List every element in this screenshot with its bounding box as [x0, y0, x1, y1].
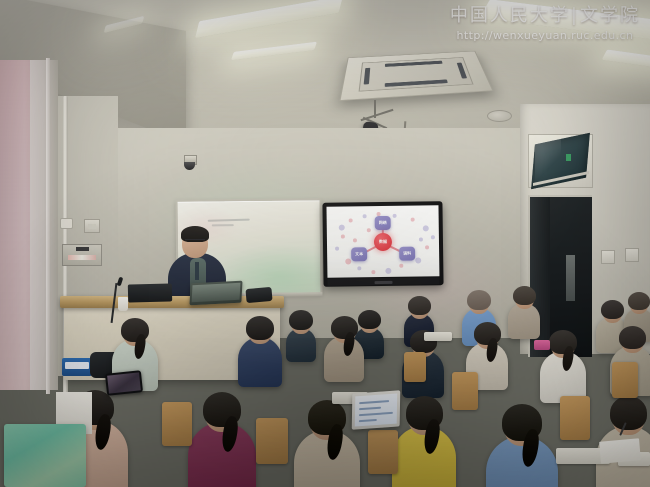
wall-switch-1[interactable]	[601, 250, 615, 264]
transom-green-tag	[566, 154, 571, 161]
mind-map-dot-10	[425, 245, 429, 249]
ac-vane-left	[364, 68, 371, 85]
flat-panel-display[interactable]: 网络文本语料数据	[322, 201, 443, 287]
student-front-right-hair	[610, 396, 647, 430]
wall-switch-2[interactable]	[625, 248, 639, 262]
mind-map-dot-15	[363, 214, 367, 218]
man-beige-right-hair	[513, 286, 536, 305]
mind-map-dot-1	[339, 225, 345, 231]
student-front-blue	[486, 404, 558, 487]
mind-map-dot-3	[335, 247, 339, 251]
podium-laptop[interactable]	[189, 281, 242, 306]
transom-glass-reflection	[535, 138, 561, 182]
mind-map-dot-5	[357, 266, 361, 270]
writing-tablet-4	[424, 332, 452, 341]
mind-map-dot-17	[419, 237, 423, 241]
wall-control-panel[interactable]	[62, 244, 102, 266]
dome-security-camera	[183, 155, 196, 171]
paper-cup	[118, 297, 128, 311]
chair-1[interactable]	[162, 402, 192, 446]
mind-map-node-left: 文本	[351, 247, 367, 261]
back-row-student-1-hair	[289, 310, 313, 330]
mind-map-dot-8	[399, 264, 403, 268]
student-checkered-coat-torso	[238, 337, 282, 387]
camera-dome	[184, 162, 195, 170]
mind-map-dot-18	[341, 235, 345, 239]
fluorescent-light-2	[479, 0, 650, 41]
podium-control-monitor[interactable]	[128, 283, 172, 302]
mind-map-hub-node: 数据	[374, 232, 392, 250]
mind-map-dot-20	[367, 228, 371, 232]
smartphone-screen	[107, 372, 141, 393]
light-switch[interactable]	[84, 219, 100, 233]
laptop-content-line-3	[359, 412, 393, 416]
student-front-tan	[294, 400, 360, 487]
display-screen: 网络文本语料数据	[326, 205, 439, 278]
mind-map-slide: 网络文本语料数据	[326, 205, 439, 278]
blue-equipment-box	[62, 358, 92, 376]
teal-green-bag	[4, 424, 86, 487]
blue-box-label	[65, 362, 89, 369]
left-jamb-pink-cast	[0, 60, 30, 390]
laptop-content-line-2	[359, 407, 381, 411]
student-tan-coat	[324, 316, 364, 387]
podium-laptop-screen	[192, 283, 241, 303]
whiteboard-writing-2	[212, 224, 234, 226]
podium-equipment[interactable]	[245, 287, 272, 303]
smartphone-camera[interactable]	[105, 370, 143, 396]
man-in-blue-shirt-hair	[467, 290, 491, 310]
mind-map-dot-11	[423, 225, 429, 231]
mind-map-dot-7	[385, 268, 391, 274]
lecturer-glasses	[185, 239, 205, 244]
corridor-light	[566, 255, 575, 301]
ac-vane-bottom	[385, 79, 447, 86]
laptop-content-line-4	[359, 419, 377, 422]
transom-window-frame	[528, 134, 593, 188]
chair-7[interactable]	[404, 352, 426, 382]
student-far-right-hair	[628, 292, 650, 310]
pipe-collar	[60, 218, 73, 229]
mind-map-node-top: 网络	[375, 215, 391, 229]
fluorescent-light-3	[231, 42, 317, 61]
control-panel-label	[76, 247, 89, 251]
display-brand-logo	[375, 281, 393, 284]
chair-3[interactable]	[368, 430, 398, 474]
left-jamb-edge	[46, 58, 50, 394]
mind-map-dot-13	[393, 214, 397, 218]
student-taking-photo	[188, 392, 256, 487]
ac-vane-top	[385, 61, 442, 67]
student-beige-far-right-hair	[601, 300, 624, 319]
classroom-photo: 网络文本语料数据	[0, 0, 650, 487]
fluorescent-light-1	[195, 0, 343, 38]
notebook	[599, 438, 641, 463]
student-laptop-screen	[355, 393, 397, 426]
man-dark-suit-hair	[408, 296, 431, 315]
student-right-notetaker-hair	[619, 326, 646, 349]
mind-map-dot-19	[431, 235, 435, 239]
pink-item-on-desk	[534, 340, 550, 350]
man-beige-right	[508, 286, 540, 343]
student-checkered-coat	[238, 316, 282, 392]
ac-vane-right	[457, 63, 467, 79]
fluorescent-light-4	[602, 49, 650, 69]
air-conditioner-grille	[359, 57, 474, 92]
laptop-content-line-1	[359, 400, 389, 404]
back-row-student-1	[286, 310, 316, 366]
lecturer-tie	[195, 262, 199, 280]
chair-5[interactable]	[560, 396, 590, 440]
chair-2[interactable]	[256, 418, 288, 464]
mind-map-dot-2	[349, 218, 353, 222]
student-taking-photo-torso	[188, 422, 256, 487]
mind-map-dot-12	[411, 218, 415, 222]
chair-6[interactable]	[612, 362, 638, 398]
light-switch-rocker[interactable]	[88, 224, 96, 229]
student-laptop[interactable]	[352, 390, 401, 429]
mind-map-dot-4	[345, 258, 351, 264]
ceiling-speaker-icon	[487, 110, 512, 122]
chair-4[interactable]	[452, 372, 478, 410]
student-yellow-hoodie	[392, 396, 456, 487]
mind-map-dot-6	[371, 270, 375, 274]
mind-map-node-right: 语料	[399, 246, 415, 260]
mind-map-dot-9	[415, 257, 421, 263]
student-checkered-coat-hair	[246, 316, 274, 340]
control-panel-buttons[interactable]	[68, 255, 96, 260]
mind-map-dot-16	[353, 238, 357, 242]
